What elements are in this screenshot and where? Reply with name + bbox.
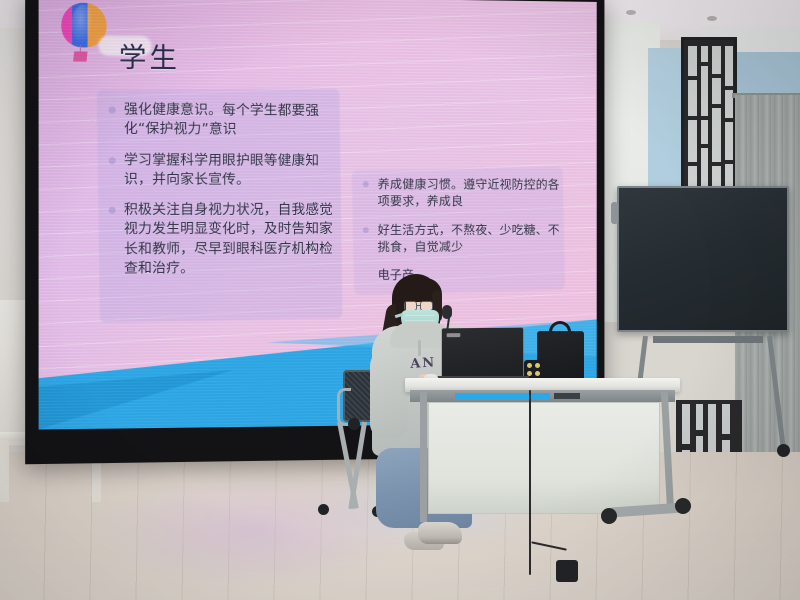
bench-leg [0, 440, 9, 502]
sneaker [418, 522, 462, 544]
table-blue-reflection [455, 393, 550, 400]
ceiling-light-icon [626, 10, 636, 15]
laptop[interactable] [442, 328, 523, 381]
monitor-screen [617, 186, 789, 332]
table-caster [601, 508, 617, 524]
monitor-stand-bar [653, 336, 763, 343]
black-bag [537, 331, 584, 381]
power-plug [556, 560, 578, 582]
monitor-caster [777, 444, 790, 457]
microphone [442, 305, 452, 319]
power-cable [529, 390, 531, 575]
hoodie-drawstring [418, 340, 421, 356]
eyeglasses-bridge [417, 305, 421, 306]
monitor-stand-leg [767, 336, 786, 454]
left-arm [370, 348, 408, 438]
laptop-brand-logo [447, 333, 461, 337]
chair-joint [348, 418, 360, 430]
table-leg [420, 392, 427, 522]
table-modesty-panel [428, 402, 660, 514]
chair-foot [318, 504, 329, 515]
classroom-scene: 学生 强化健康意识。每个学生都要强化“保护视力”意识 学习掌握科学用眼护眼等健康… [0, 0, 800, 600]
ceiling-light-icon [707, 16, 717, 21]
table-caster [675, 498, 691, 514]
monitor-handle [611, 202, 618, 224]
